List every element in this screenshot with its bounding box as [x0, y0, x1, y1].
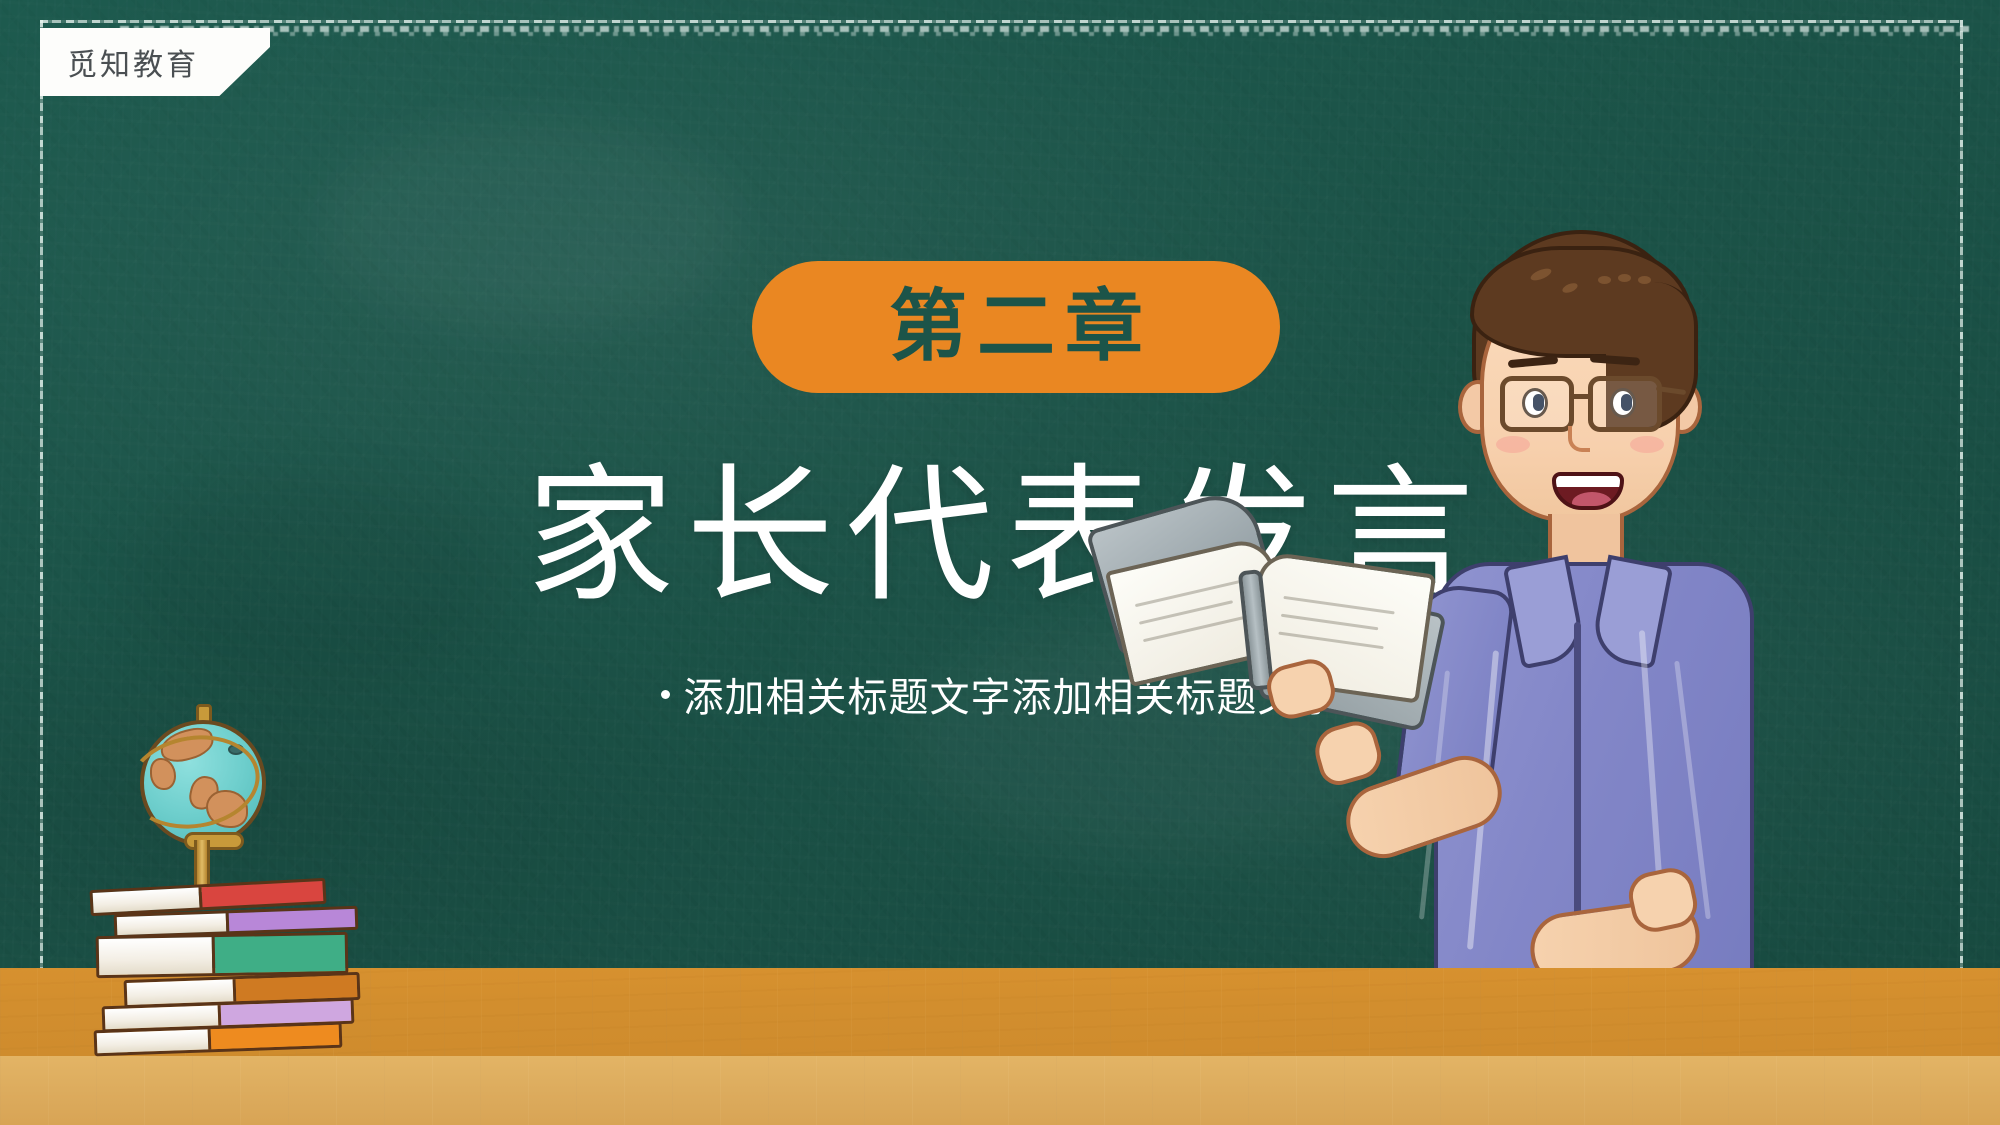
book-cover: [201, 881, 323, 907]
book-item: [96, 932, 349, 978]
open-book: [1100, 500, 1410, 750]
book-pages: [99, 937, 216, 975]
book-pages: [127, 979, 236, 1005]
desk-front-edge: [0, 1056, 2000, 1125]
chapter-badge[interactable]: 第二章: [752, 261, 1280, 393]
book-pages: [93, 887, 203, 913]
book-cover: [235, 975, 357, 1001]
bullet-icon: [661, 690, 670, 699]
book-pages: [105, 1005, 222, 1029]
tongue: [1572, 492, 1612, 510]
hair-highlight: [1618, 274, 1631, 282]
hair-highlight: [1598, 276, 1611, 284]
globe-base-elbow: [184, 832, 244, 850]
hair-highlight: [1638, 276, 1651, 284]
blush-left: [1496, 436, 1530, 453]
book-cover: [211, 1025, 339, 1049]
chapter-badge-label: 第二章: [879, 288, 1153, 366]
book-pages: [117, 913, 230, 935]
book-cover: [215, 935, 345, 973]
teeth: [1556, 476, 1620, 487]
desk-globe: [104, 700, 294, 910]
book-pages: [97, 1029, 212, 1053]
glasses-bridge: [1570, 394, 1592, 399]
book-cover: [229, 909, 355, 931]
stacked-books: [62, 880, 352, 1050]
blush-right: [1630, 436, 1664, 453]
glasses-lens-left: [1500, 376, 1574, 432]
book-cover: [221, 1001, 351, 1026]
logo-label: 觅知教育: [40, 40, 199, 84]
slide-root: 觅知教育 第二章 家长代表发言 添加相关标题文字添加相关标题文字: [0, 0, 2000, 1125]
glasses-lens-right: [1588, 376, 1662, 432]
